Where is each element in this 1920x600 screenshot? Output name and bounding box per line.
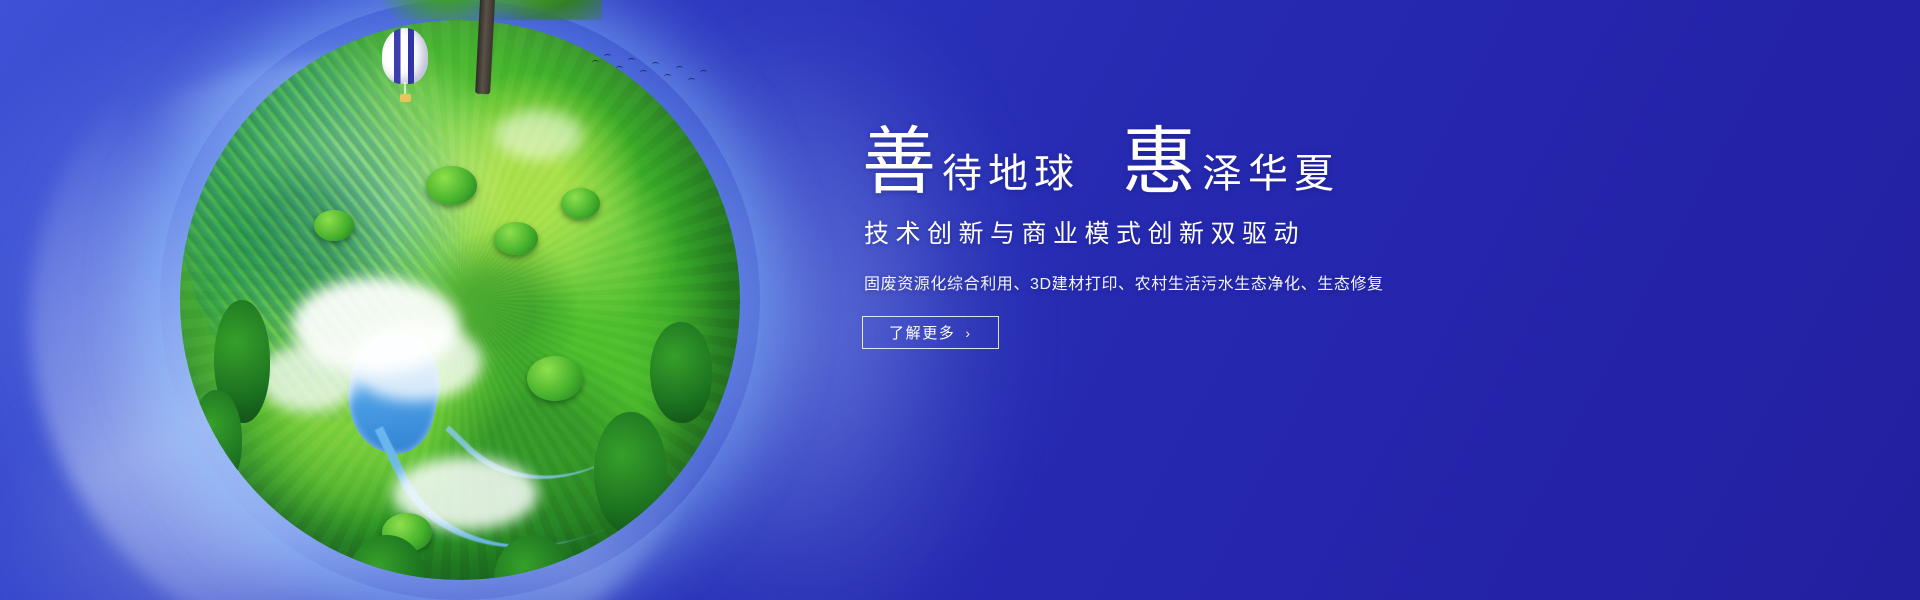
learn-more-button[interactable]: 了解更多 ›: [862, 316, 999, 349]
bush: [426, 166, 476, 205]
bird-icon: [676, 66, 683, 71]
bird-icon: [700, 70, 707, 75]
hero-headline: 善 待地球 惠 泽华夏: [862, 126, 1562, 200]
bird-icon: [604, 54, 611, 59]
bird-icon: [616, 66, 623, 71]
headline-char-primary-1: 善: [862, 126, 936, 200]
planet-sphere: [180, 20, 740, 580]
headline-text-2: 泽华夏: [1202, 154, 1340, 194]
headline-text-1: 待地球: [942, 154, 1080, 194]
bush: [314, 210, 353, 241]
hero-description: 固废资源化综合利用、3D建材打印、农村生活污水生态净化、生态修复: [864, 270, 1562, 294]
learn-more-label: 了解更多: [889, 322, 955, 343]
cloud: [258, 345, 359, 412]
bird-icon: [628, 58, 635, 63]
tree: [191, 390, 241, 491]
tree: [650, 322, 712, 423]
tree: [594, 412, 667, 535]
chevron-right-icon: ›: [965, 326, 971, 340]
bird-icon: [664, 74, 671, 79]
bird-icon: [688, 78, 695, 83]
headline-char-primary-2: 惠: [1122, 126, 1196, 200]
bush: [527, 356, 583, 401]
bird-icon: [640, 70, 647, 75]
cloud: [494, 110, 584, 160]
bush: [561, 188, 600, 219]
hero-content: 善 待地球 惠 泽华夏 技术创新与商业模式创新双驱动 固废资源化综合利用、3D建…: [862, 126, 1562, 349]
bird-icon: [652, 62, 659, 67]
hero-subtitle: 技术创新与商业模式创新双驱动: [864, 214, 1562, 250]
balloon-basket: [400, 94, 411, 102]
bird-icon: [592, 60, 599, 65]
hot-air-balloon: [382, 28, 428, 106]
balloon-envelope: [382, 28, 428, 84]
bird-flock: [590, 52, 720, 92]
hero-banner: 善 待地球 惠 泽华夏 技术创新与商业模式创新双驱动 固废资源化综合利用、3D建…: [0, 0, 1920, 600]
cloud: [348, 322, 482, 400]
